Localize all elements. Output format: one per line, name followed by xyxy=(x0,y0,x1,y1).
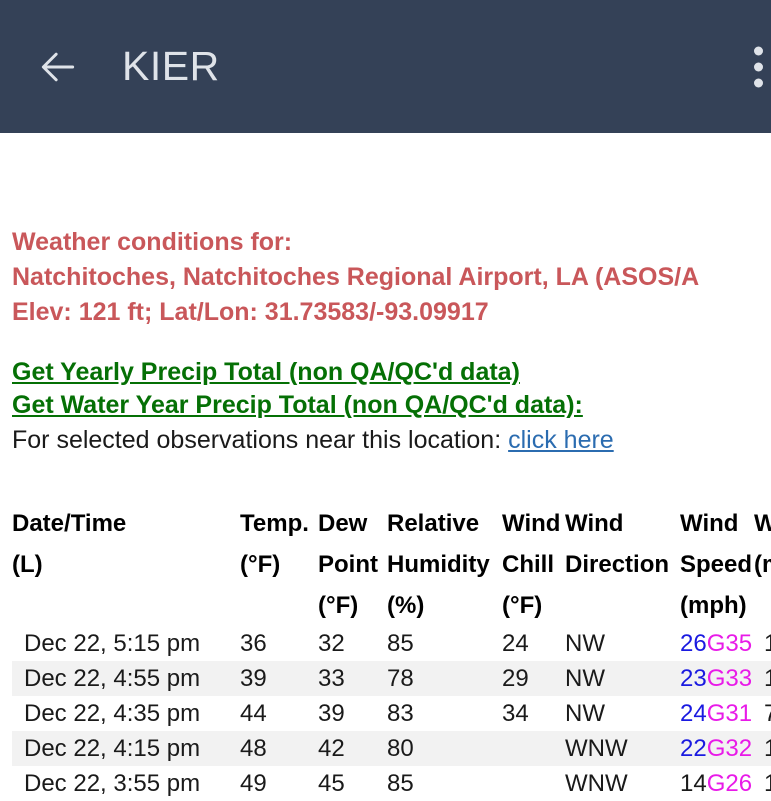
cell-relative-humidity: 78 xyxy=(387,661,502,696)
table-row: Dec 22, 3:55 pm494585WNW14G261 xyxy=(12,766,771,801)
cell-wind-speed: 14G26 xyxy=(680,766,754,801)
col-header-relative-humidity: Relative Humidity (%) xyxy=(387,503,502,626)
yearly-precip-link[interactable]: Get Yearly Precip Total (non QA/QC'd dat… xyxy=(12,356,759,389)
cell-relative-humidity: 85 xyxy=(387,626,502,661)
station-info: Weather conditions for: Natchitoches, Na… xyxy=(12,225,759,330)
overflow-dot xyxy=(754,62,763,71)
observations-line: For selected observations near this loca… xyxy=(12,424,759,457)
cell-datetime: Dec 22, 4:35 pm xyxy=(12,696,240,731)
col-header-temp: Temp. (°F) xyxy=(240,503,318,626)
wind-gust-value: G32 xyxy=(707,735,752,762)
observations-table-wrap: Date/Time (L) Temp. (°F) Dew Point (°F) xyxy=(12,503,771,801)
station-elevation: Elev: 121 ft; Lat/Lon: 31.73583/-93.0991… xyxy=(12,295,759,330)
wind-speed-value: 14 xyxy=(680,770,707,797)
overflow-dot xyxy=(754,46,763,55)
cell-wind-chill: 29 xyxy=(502,661,565,696)
cell-relative-humidity: 85 xyxy=(387,766,502,801)
cell-dew-point: 32 xyxy=(318,626,387,661)
observations-table: Date/Time (L) Temp. (°F) Dew Point (°F) xyxy=(12,503,771,801)
wind-gust-value: G35 xyxy=(707,630,752,657)
cell-wind-speed: 23G33 xyxy=(680,661,754,696)
table-row: Dec 22, 4:55 pm39337829NW23G331 xyxy=(12,661,771,696)
cell-temp: 48 xyxy=(240,731,318,766)
cell-wind-speed: 22G32 xyxy=(680,731,754,766)
table-body: Dec 22, 5:15 pm36328524NW26G351Dec 22, 4… xyxy=(12,626,771,801)
table-row: Dec 22, 4:35 pm44398334NW24G317 xyxy=(12,696,771,731)
wind-gust-value: G26 xyxy=(707,770,752,797)
wind-speed-value: 22 xyxy=(680,735,707,762)
cell-wind-direction: NW xyxy=(565,696,680,731)
cell-dew-point: 45 xyxy=(318,766,387,801)
col-header-datetime: Date/Time (L) xyxy=(12,503,240,626)
cell-temp: 44 xyxy=(240,696,318,731)
col-header-truncated: W (m xyxy=(754,503,771,626)
wind-speed-value: 24 xyxy=(680,700,707,727)
click-here-link[interactable]: click here xyxy=(508,426,614,454)
water-year-precip-link[interactable]: Get Water Year Precip Total (non QA/QC'd… xyxy=(12,389,759,422)
cell-dew-point: 33 xyxy=(318,661,387,696)
cell-temp: 36 xyxy=(240,626,318,661)
cell-relative-humidity: 80 xyxy=(387,731,502,766)
cell-wind-chill xyxy=(502,731,565,766)
cell-wind-direction: WNW xyxy=(565,731,680,766)
cell-wind-chill: 34 xyxy=(502,696,565,731)
wind-gust-value: G31 xyxy=(707,700,752,727)
station-name: Natchitoches, Natchitoches Regional Airp… xyxy=(12,260,759,295)
table-row: Dec 22, 5:15 pm36328524NW26G351 xyxy=(12,626,771,661)
cell-truncated: 1 xyxy=(754,626,771,661)
wind-speed-value: 26 xyxy=(680,630,707,657)
page-content: Weather conditions for: Natchitoches, Na… xyxy=(0,225,771,801)
col-header-wind-chill: Wind Chill (°F) xyxy=(502,503,565,626)
observations-prefix: For selected observations near this loca… xyxy=(12,426,501,454)
cell-wind-chill: 24 xyxy=(502,626,565,661)
cell-wind-direction: WNW xyxy=(565,766,680,801)
cell-dew-point: 42 xyxy=(318,731,387,766)
cell-truncated: 7 xyxy=(754,696,771,731)
back-arrow-icon[interactable] xyxy=(36,45,80,89)
cell-temp: 49 xyxy=(240,766,318,801)
cell-dew-point: 39 xyxy=(318,696,387,731)
col-header-dew-point: Dew Point (°F) xyxy=(318,503,387,626)
cell-truncated: 1 xyxy=(754,661,771,696)
table-header-row: Date/Time (L) Temp. (°F) Dew Point (°F) xyxy=(12,503,771,626)
col-header-wind-speed: Wind Speed (mph) xyxy=(680,503,754,626)
app-bar: KIER xyxy=(0,0,771,133)
station-heading: Weather conditions for: xyxy=(12,225,759,260)
links-section: Get Yearly Precip Total (non QA/QC'd dat… xyxy=(12,356,759,457)
table-row: Dec 22, 4:15 pm484280WNW22G321 xyxy=(12,731,771,766)
cell-truncated: 1 xyxy=(754,731,771,766)
overflow-dot xyxy=(754,78,763,87)
page-title: KIER xyxy=(122,43,220,90)
cell-truncated: 1 xyxy=(754,766,771,801)
wind-speed-value: 23 xyxy=(680,665,707,692)
cell-datetime: Dec 22, 3:55 pm xyxy=(12,766,240,801)
cell-relative-humidity: 83 xyxy=(387,696,502,731)
col-header-wind-direction: Wind Direction xyxy=(565,503,680,626)
table-head: Date/Time (L) Temp. (°F) Dew Point (°F) xyxy=(12,503,771,626)
cell-temp: 39 xyxy=(240,661,318,696)
cell-wind-direction: NW xyxy=(565,626,680,661)
wind-gust-value: G33 xyxy=(707,665,752,692)
cell-datetime: Dec 22, 4:15 pm xyxy=(12,731,240,766)
cell-wind-speed: 26G35 xyxy=(680,626,754,661)
cell-datetime: Dec 22, 5:15 pm xyxy=(12,626,240,661)
cell-wind-speed: 24G31 xyxy=(680,696,754,731)
cell-wind-direction: NW xyxy=(565,661,680,696)
cell-wind-chill xyxy=(502,766,565,801)
cell-datetime: Dec 22, 4:55 pm xyxy=(12,661,240,696)
more-vertical-icon[interactable] xyxy=(741,46,771,87)
